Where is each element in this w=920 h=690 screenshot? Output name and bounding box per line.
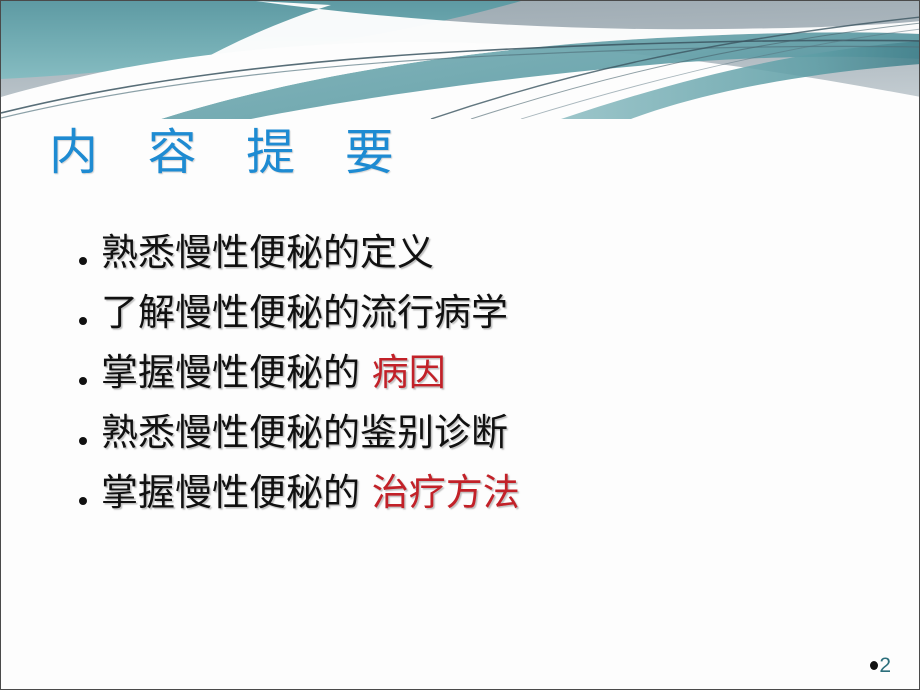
list-item-text: 掌握慢性便秘的 bbox=[101, 471, 360, 514]
list-item: 掌握慢性便秘的 病因 bbox=[73, 346, 713, 399]
bullet-dot-icon bbox=[79, 377, 87, 385]
list-item-accent: 病因 bbox=[372, 351, 446, 394]
list-item: 熟悉慢性便秘的鉴别诊断 bbox=[73, 406, 713, 459]
page-bullet-dot-icon bbox=[870, 661, 878, 670]
header-swoosh-graphic bbox=[1, 1, 920, 119]
list-item-accent: 治疗方法 bbox=[372, 471, 520, 514]
list-item-text: 了解慢性便秘的流行病学 bbox=[101, 291, 508, 334]
list-item-text: 掌握慢性便秘的 bbox=[101, 351, 360, 394]
header-decoration bbox=[1, 1, 920, 119]
presentation-slide: 内 容 提 要 熟悉慢性便秘的定义 了解慢性便秘的流行病学 掌握慢性便秘的 病因… bbox=[0, 0, 920, 690]
bullet-dot-icon bbox=[79, 257, 87, 265]
bullet-dot-icon bbox=[79, 437, 87, 445]
bullet-dot-icon bbox=[79, 317, 87, 325]
bullet-dot-icon bbox=[79, 497, 87, 505]
page-number: 2 bbox=[879, 655, 891, 676]
list-item: 掌握慢性便秘的 治疗方法 bbox=[73, 466, 713, 519]
list-item: 了解慢性便秘的流行病学 bbox=[73, 286, 713, 339]
list-item: 熟悉慢性便秘的定义 bbox=[73, 226, 713, 279]
page-number-group: 2 bbox=[870, 655, 891, 676]
list-item-text: 熟悉慢性便秘的定义 bbox=[101, 231, 434, 274]
list-item-text: 熟悉慢性便秘的鉴别诊断 bbox=[101, 411, 508, 454]
slide-title: 内 容 提 要 bbox=[49, 123, 411, 183]
bullet-list: 熟悉慢性便秘的定义 了解慢性便秘的流行病学 掌握慢性便秘的 病因 熟悉慢性便秘的… bbox=[73, 226, 713, 526]
